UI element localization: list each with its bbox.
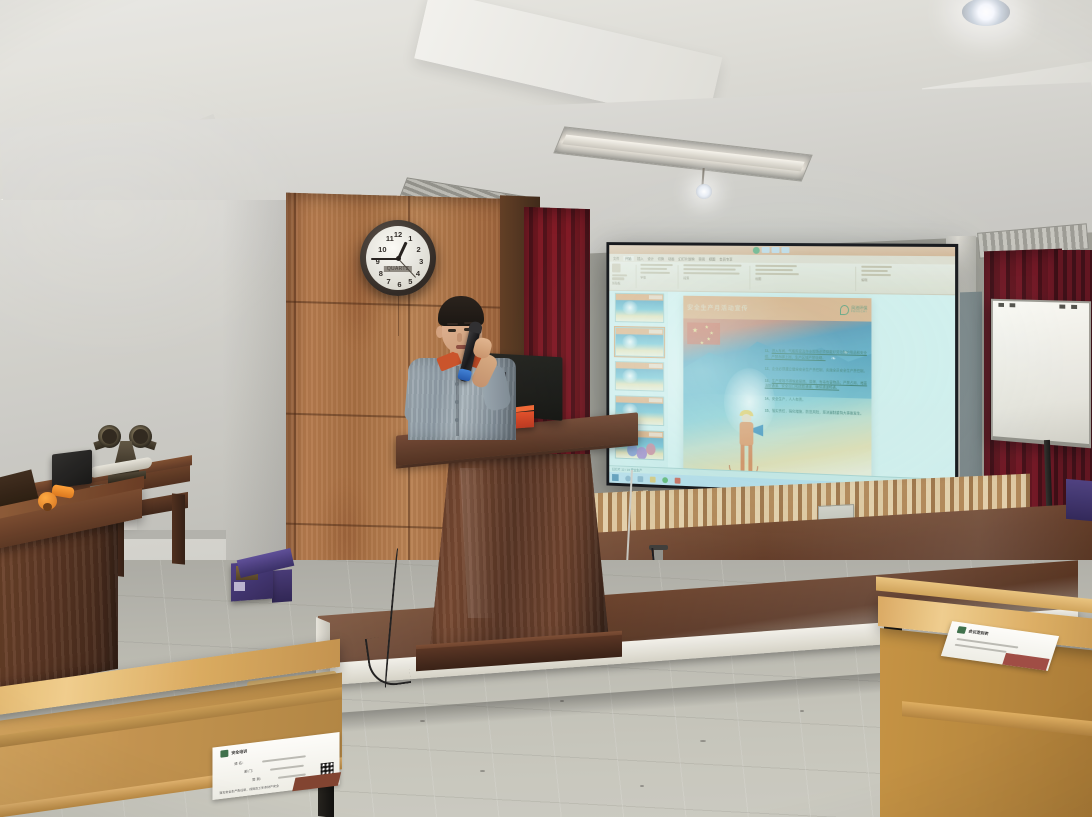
ribbon-group-label: 绘图 [755,276,799,280]
clock-minute-hand [371,258,398,260]
clock-numeral: 8 [379,269,383,278]
slide-thumbnail[interactable]: 11 [615,293,664,323]
tab-review[interactable]: 审阅 [698,256,705,261]
clock-numeral: 3 [419,257,423,266]
star-icon: ★ [707,337,711,343]
ribbon-group-drawing[interactable]: 绘图 [755,265,799,281]
tab-home[interactable]: 开始 [623,255,633,260]
projection-screen[interactable]: 文件 开始 插入 设计 切换 动画 幻灯片放映 审阅 视图 会员专享 剪贴板 [606,242,958,501]
document-row: 部 门： [244,768,255,774]
pulley-wheel [98,425,121,448]
pdf-reader-icon[interactable] [675,477,681,483]
slide-body-text: 11、进入车间、气瓶库房及作业现场必须穿戴好劳动防护用品和安全帽，严禁赤脚上岗，… [765,349,868,417]
slide-bullet: 14、安全生产，人人有责。 [765,396,868,404]
orange-valve-fitting [38,486,74,510]
clock-numeral: 10 [378,245,386,254]
tab-slideshow[interactable]: 幻灯片放映 [678,256,694,261]
ribbon-group-clipboard[interactable]: 剪贴板 [612,264,627,286]
document-title: 安全培训 [231,748,247,756]
tab-animation[interactable]: 动画 [668,256,674,261]
ribbon-group-font[interactable]: 字体 [640,264,672,280]
paste-icon[interactable] [612,264,620,273]
slide-thumbnail[interactable]: 13 [615,361,664,392]
tab-insert[interactable]: 插入 [637,255,643,260]
mic-grip-band [457,368,472,382]
clip-icon [1059,305,1065,309]
ribbon-toolbar[interactable]: 剪贴板 字体 段落 [609,262,955,296]
ribbon-group-paragraph[interactable]: 段落 [683,264,741,280]
podium [404,424,630,672]
slide-artwork: ★ ★ ★ ★ ★ ❧ ❧ [683,318,871,487]
clock-numeral: 1 [408,234,412,243]
ribbon-group-label: 字体 [640,275,672,279]
purple-box [272,569,292,602]
tab-transition[interactable]: 切换 [658,256,664,261]
ribbon-group-label: 段落 [683,276,741,281]
slide-header: 安全生产月活动宣传 凤池环保 FENGCHI [683,296,871,322]
clock-face: 12 1 2 3 4 5 6 7 8 9 10 11 QUARTZ [366,226,430,290]
pendant-bulb-icon [696,184,712,199]
document-row: 签 到： [252,776,263,782]
clock-numeral: 12 [394,230,402,239]
clock-numeral: 11 [386,234,394,243]
conference-room-photo: 12 1 2 3 4 5 6 7 8 9 10 11 QUARTZ [0,0,1092,817]
app-workspace: 11 12 13 14 [609,291,955,487]
task-view-icon[interactable] [638,476,644,482]
slide-bullet: 13、生产现场不得堆放易燃、易爆、有毒有害物品；严禁占用、堵塞消防通道、安全出口… [765,379,868,392]
clip-icon [1071,305,1077,309]
clock-numeral: 5 [408,277,412,286]
flipchart-whiteboard[interactable] [991,299,1091,449]
document-row: 姓 名： [234,760,245,766]
black-instrument-case [52,450,92,489]
logo-en-text: FENGCHI [851,310,867,313]
presenter [400,296,520,436]
logo-mark-icon [957,626,967,634]
slide-bullet: 11、进入车间、气瓶库房及作业现场必须穿戴好劳动防护用品和安全帽，严禁赤脚上岗，… [765,349,868,362]
explorer-icon[interactable] [650,476,656,482]
ribbon-group-label: 编辑 [861,278,892,282]
leaf-logo-icon [840,304,849,314]
active-slide[interactable]: 安全生产月活动宣传 凤池环保 FENGCHI ★ [683,296,871,487]
purple-box [1066,479,1092,521]
screen-surface: 文件 开始 插入 设计 切换 动画 幻灯片放映 审阅 视图 会员专享 剪贴板 [609,245,955,498]
tab-file[interactable]: 文件 [613,255,619,260]
clip-icon [998,303,1004,307]
star-icon: ★ [692,326,698,334]
box-label [234,582,245,591]
clock-numeral: 2 [417,245,421,254]
wall-clock: 12 1 2 3 4 5 6 7 8 9 10 11 QUARTZ [360,220,436,296]
clock-numeral: 6 [397,280,401,289]
clock-numeral: 4 [416,269,420,278]
tab-member[interactable]: 会员专享 [719,256,732,261]
tab-design[interactable]: 设计 [647,256,653,261]
balloon-icon [646,443,656,455]
slide-thumbnail-selected[interactable]: 12 [615,327,664,357]
tab-view[interactable]: 视图 [709,256,716,261]
slide-bullet: 12、企业必须建立健全安全生产责任制，实施全员安全生产责任制。 [765,367,868,375]
ribbon-group-label: 剪贴板 [612,281,627,285]
star-icon: ★ [705,325,709,331]
clock-numeral: 7 [386,277,390,286]
star-icon: ★ [700,340,704,346]
document-title: 会议签到表 [968,628,990,637]
front-table-body [0,519,118,692]
logo-mark-icon [220,750,228,758]
slide-bullet: 15、落实责任，强化措施，防范风险，坚决遏制重特大事故发生。 [765,409,868,418]
slide-title: 安全生产月活动宣传 [687,303,748,313]
wechat-icon[interactable] [662,477,668,483]
company-logo: 凤池环保 FENGCHI [840,304,867,315]
ribbon-group-editing[interactable]: 编辑 [861,266,892,282]
wps-logo-icon [752,246,759,253]
clip-icon [1010,303,1016,307]
